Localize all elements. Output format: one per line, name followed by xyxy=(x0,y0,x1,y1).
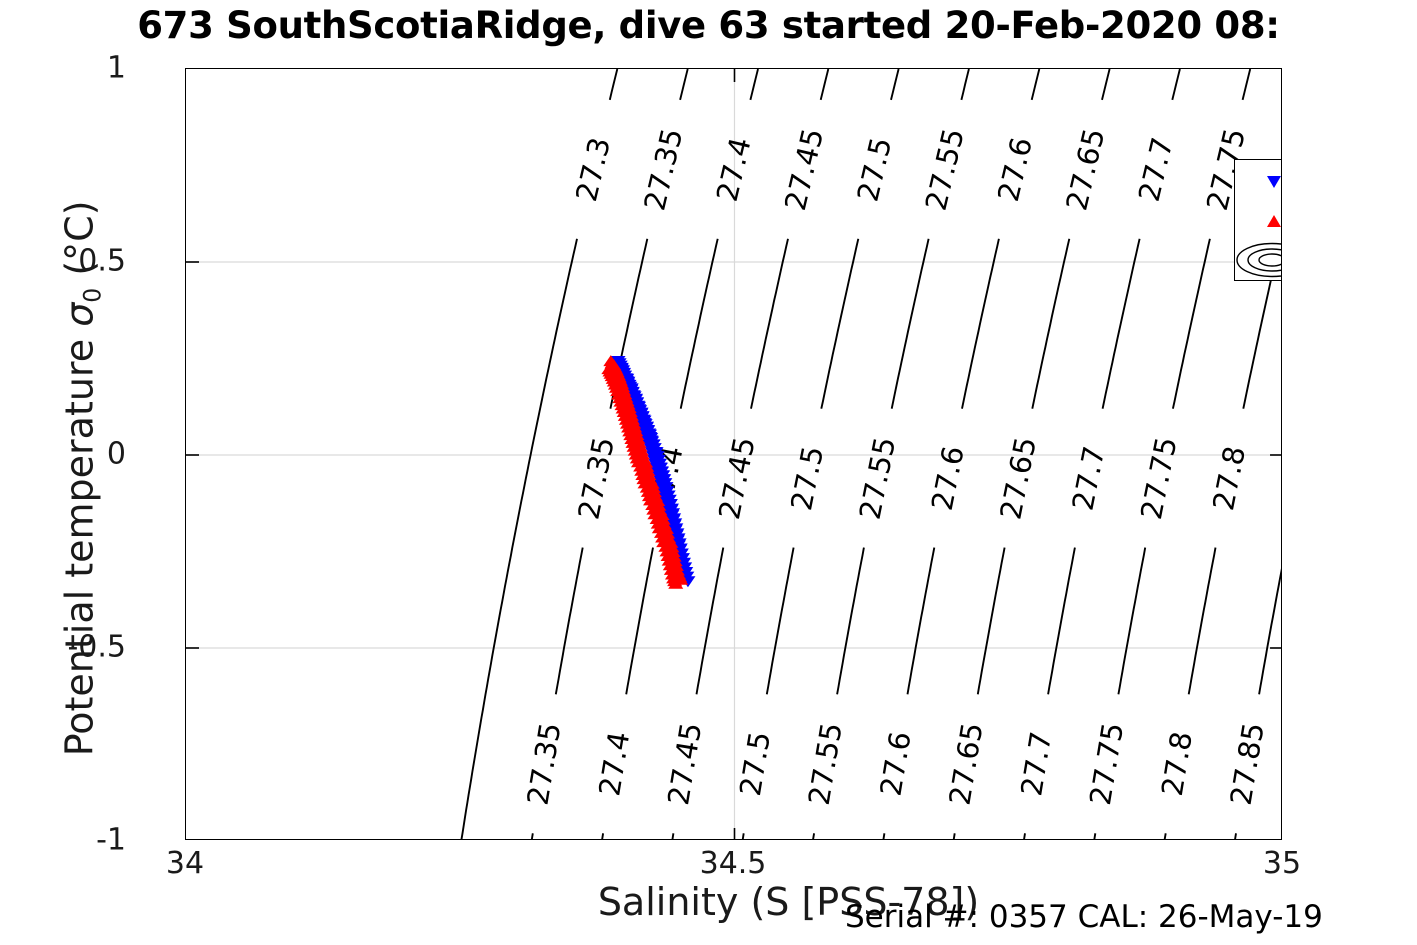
contour-label: 27.6 xyxy=(991,134,1039,205)
contour-line xyxy=(681,239,718,409)
y-tick-neg1: -1 xyxy=(96,823,126,858)
contour-label: 27.65 xyxy=(993,434,1043,522)
contour-label: 27.75 xyxy=(1083,720,1130,807)
contour-label: 27.55 xyxy=(853,434,903,522)
y-axis-label: Potential temperature σ0 (°C) xyxy=(58,158,107,798)
contour-line xyxy=(743,833,744,840)
contour-label: 27.45 xyxy=(778,125,830,214)
contour-line xyxy=(1172,69,1180,100)
plot-svg: 27.327.3527.3527.3527.427.427.427.4527.4… xyxy=(186,69,1282,840)
x-tick-34: 34 xyxy=(166,846,204,881)
x-tick-35: 35 xyxy=(1263,846,1301,881)
contour-label: 27.65 xyxy=(942,720,989,807)
page-title: 673 SouthScotiaRidge, dive 63 started 20… xyxy=(0,4,1417,47)
contour-line xyxy=(697,548,724,695)
contour-label: 27.7 xyxy=(1066,443,1112,513)
contour-label: 27.55 xyxy=(919,125,971,214)
contour-label: 27.7 xyxy=(1014,729,1058,798)
contour-line xyxy=(1094,833,1095,840)
contour-line xyxy=(1243,69,1251,100)
contour-line xyxy=(1032,69,1040,100)
y-tick-0: 0 xyxy=(107,437,126,472)
contour-label: 27.5 xyxy=(784,443,830,513)
serial-cal-footer: Serial #: 0357 CAL: 26-May-19 xyxy=(845,899,1323,935)
contour-label: 27.4 xyxy=(592,729,636,798)
contour-label: 27.6 xyxy=(925,443,971,513)
contour-label: 27.8 xyxy=(1155,729,1199,798)
contour-line xyxy=(908,548,935,695)
triangle-up-icon xyxy=(1235,201,1282,240)
contour-line xyxy=(821,69,829,100)
legend-item-ascent[interactable]: ascent xyxy=(1235,201,1282,240)
contour-label: 27.35 xyxy=(637,125,689,214)
contour-line xyxy=(610,69,618,100)
contour-line xyxy=(1118,548,1145,695)
contour-line xyxy=(892,239,929,409)
contour-label: 27.75 xyxy=(1134,434,1184,522)
contour-line xyxy=(680,69,688,100)
contour-line xyxy=(672,833,673,840)
contour-label: 27.35 xyxy=(571,434,621,522)
contour-label: 27.3 xyxy=(569,134,617,205)
contour-label: 27.4 xyxy=(710,134,758,205)
contour-line xyxy=(602,833,603,840)
x-tick-34_5: 34.5 xyxy=(700,846,767,881)
contour-line xyxy=(837,548,864,695)
contour-line xyxy=(821,239,858,409)
contour-line xyxy=(767,548,794,695)
contour-label: 27.85 xyxy=(1275,434,1282,522)
contour-line xyxy=(1032,239,1069,409)
contour-line xyxy=(1259,548,1282,695)
contour-line xyxy=(891,69,899,100)
contour-label: 27.45 xyxy=(661,720,708,807)
contour-line xyxy=(1235,833,1236,840)
contour-line xyxy=(532,833,533,840)
contour-label: 27.7 xyxy=(1132,134,1180,205)
contour-label: 27.5 xyxy=(850,134,898,205)
contour-label: 27.55 xyxy=(802,720,849,807)
contour-line xyxy=(1024,833,1025,840)
contour-line xyxy=(954,833,955,840)
contour-line xyxy=(1164,833,1165,840)
contour-line xyxy=(1048,548,1075,695)
contour-label: 27.8 xyxy=(1206,443,1252,513)
contour-line xyxy=(1102,69,1110,100)
legend[interactable]: descent ascent data1 xyxy=(1234,159,1282,281)
y-tick-1: 1 xyxy=(107,51,126,86)
y-axis-label-suffix: (°C) xyxy=(58,200,102,287)
y-axis-label-prefix: Potential temperature xyxy=(58,327,102,757)
contour-label: 27.35 xyxy=(520,720,567,807)
contour-label: 27.6 xyxy=(874,729,918,798)
contour-line xyxy=(813,833,814,840)
y-axis-label-subscript: 0 xyxy=(78,288,106,303)
contour-line xyxy=(883,833,884,840)
legend-item-descent[interactable]: descent xyxy=(1235,162,1282,201)
contour-line xyxy=(1173,239,1210,409)
contour-line xyxy=(962,239,999,409)
contour-label: 27.65 xyxy=(1059,125,1111,214)
plot-area: 27.327.3527.3527.3527.427.427.427.4527.4… xyxy=(185,68,1282,840)
contour-line xyxy=(978,548,1005,695)
contour-line xyxy=(750,69,758,100)
contour-line xyxy=(1189,548,1216,695)
contour-label: 27.85 xyxy=(1224,720,1271,807)
y-axis-label-sigma: σ xyxy=(58,303,102,327)
contour-label: 27.45 xyxy=(712,434,762,522)
contour-line xyxy=(961,69,969,100)
contour-line xyxy=(626,548,653,695)
contour-rings-icon xyxy=(1235,240,1282,279)
triangle-down-icon xyxy=(1235,162,1282,201)
contour-line xyxy=(556,548,583,695)
contour-line xyxy=(1103,239,1140,409)
contour-label: 27.5 xyxy=(733,729,777,798)
contour-line xyxy=(751,239,788,409)
legend-item-data1[interactable]: data1 xyxy=(1235,240,1282,279)
